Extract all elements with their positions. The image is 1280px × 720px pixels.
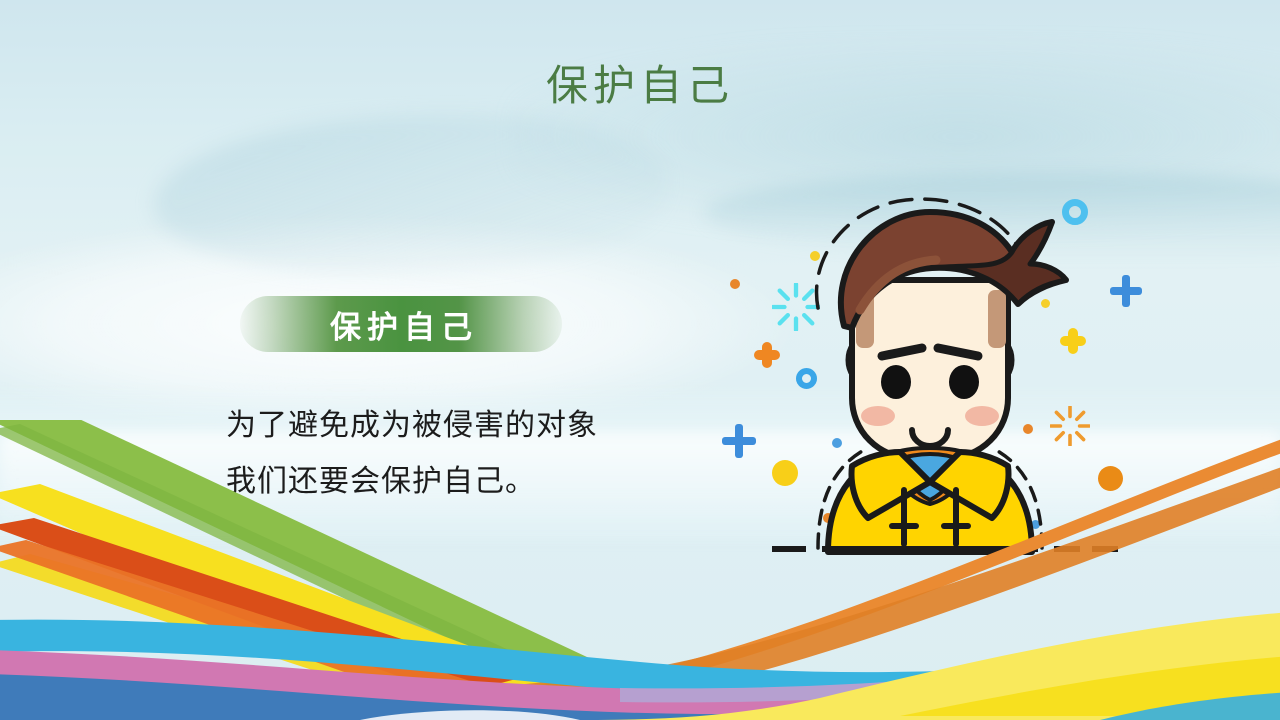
presentation-slide: 保护自己 保护自己 为了避免成为被侵害的对象 我们还要会保护自己。 [0, 0, 1280, 720]
colorful-ribbons-decoration [0, 420, 1280, 720]
slide-title: 保护自己 [0, 52, 1280, 113]
section-badge-label: 保护自己 [324, 302, 478, 347]
section-badge: 保护自己 [240, 296, 562, 352]
